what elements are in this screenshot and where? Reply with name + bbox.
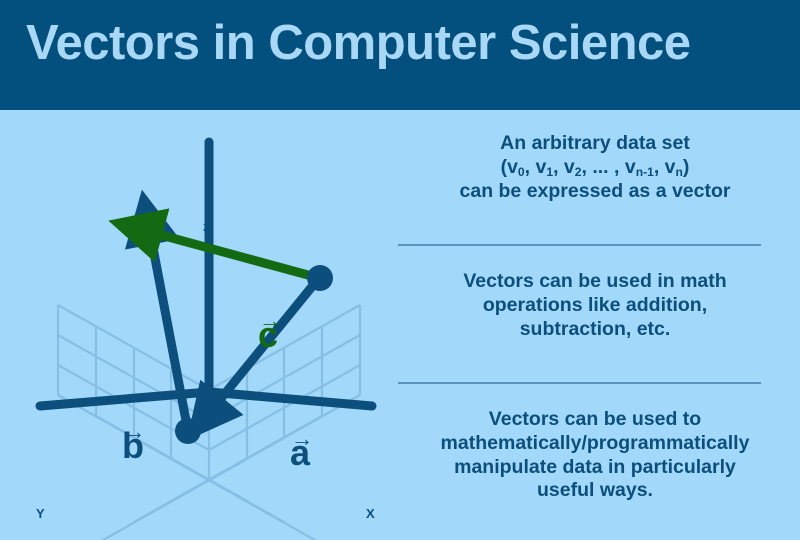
vector-label-a: → a bbox=[290, 435, 310, 471]
fact-line: useful ways. bbox=[398, 479, 792, 503]
notation-sub-2: 2 bbox=[575, 165, 582, 179]
dataset-notation-line: (v0, v1, v2, ... , vn-1, vn) bbox=[398, 156, 792, 180]
notation-sub-0: 0 bbox=[518, 165, 525, 179]
notation-close: ) bbox=[683, 156, 690, 178]
header-band: Vectors in Computer Science bbox=[0, 0, 800, 110]
fact-item: Vectors can be used to mathematically/pr… bbox=[398, 408, 792, 503]
fact-item: An arbitrary data set (v0, v1, v2, ... ,… bbox=[398, 132, 792, 203]
notation-var-4: v bbox=[665, 156, 676, 178]
vector-diagram: z Y X → b → a → c → a bbox=[0, 110, 390, 540]
section-divider bbox=[398, 244, 761, 246]
notation-open: (v bbox=[501, 156, 518, 178]
vector-b-line bbox=[150, 232, 188, 431]
fact-line: operations like addition, bbox=[398, 294, 792, 318]
section-divider bbox=[398, 382, 761, 384]
axis-label-y: Y bbox=[36, 506, 45, 521]
fact-line: Vectors can be used to bbox=[398, 408, 792, 432]
fact-line: subtraction, etc. bbox=[398, 318, 792, 342]
vector-arrow-accent-c: → bbox=[259, 310, 281, 332]
notation-var-1: v bbox=[535, 156, 546, 178]
notation-ellipsis: ... bbox=[592, 156, 614, 178]
notation-var-2: v bbox=[564, 156, 575, 178]
slide-root: Vectors in Computer Science bbox=[0, 0, 800, 540]
fact-item: Vectors can be used in math operations l… bbox=[398, 270, 792, 341]
page-title: Vectors in Computer Science bbox=[26, 17, 691, 71]
fact-line: An arbitrary data set bbox=[398, 132, 792, 156]
vector-label-c: → c bbox=[258, 317, 278, 353]
vector-arrow-accent-b: → bbox=[123, 421, 145, 443]
fact-line: can be expressed as a vector bbox=[398, 180, 792, 204]
notation-sub-1: 1 bbox=[546, 165, 553, 179]
axes-3d-svg bbox=[0, 110, 390, 540]
fact-line: mathematically/programmatically bbox=[398, 432, 792, 456]
vector-origin-dot-top bbox=[307, 265, 333, 291]
axis-label-z: z bbox=[203, 219, 210, 234]
vector-c-line bbox=[150, 232, 319, 278]
axis-label-x: X bbox=[366, 506, 375, 521]
vector-origin-dot-bottom bbox=[175, 418, 201, 444]
vector-label-b: → b bbox=[122, 428, 144, 464]
fact-line: manipulate data in particularly bbox=[398, 456, 792, 480]
vector-arrow-accent-a: → bbox=[291, 428, 313, 450]
facts-panel: An arbitrary data set (v0, v1, v2, ... ,… bbox=[390, 110, 800, 540]
notation-sub-4: n bbox=[676, 165, 683, 179]
notation-var-3: v bbox=[625, 156, 636, 178]
fact-line: Vectors can be used in math bbox=[398, 270, 792, 294]
notation-sub-3: n-1 bbox=[636, 165, 654, 179]
